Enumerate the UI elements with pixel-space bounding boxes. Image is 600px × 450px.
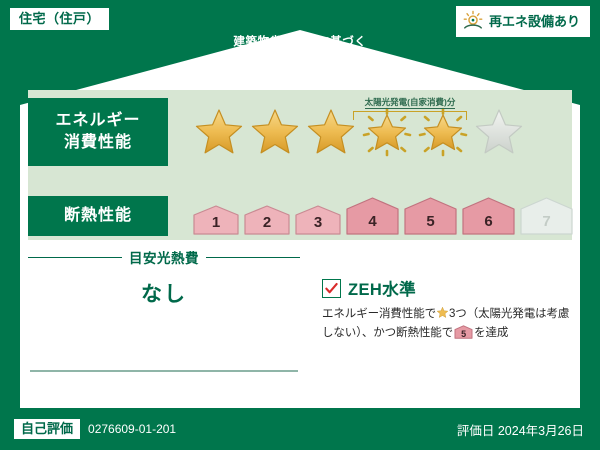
utility-cost-heading-text: 目安光熱費 <box>129 247 199 267</box>
insulation-label: 断熱性能 <box>64 208 132 224</box>
insulation-grade-1: 1 <box>192 205 240 235</box>
energy-performance-label: 住宅（住戸） 再エネ設備あり 建築物省エネ法に基づく 省エネ性能ラベル エネルギ… <box>0 0 600 450</box>
insulation-grade-7: 7 <box>519 197 574 235</box>
zeh-heading: ZEH水準 <box>322 276 572 300</box>
inline-grade-badge: 5 <box>454 325 473 339</box>
insulation-performance-row: 断熱性能 1 2 3 4 <box>28 196 574 236</box>
zeh-standard-block: ZEH水準 エネルギー消費性能で3つ（太陽光発電は考慮しない）、かつ断熱性能で5… <box>322 276 572 342</box>
zeh-desc-part1: エネルギー消費性能で <box>322 308 436 320</box>
heading-rule-left <box>28 257 122 258</box>
evaluation-type-badge: 自己評価 <box>14 419 80 439</box>
insulation-grade-6: 6 <box>461 197 516 235</box>
energy-performance-label-box: エネルギー 消費性能 <box>28 98 168 166</box>
insulation-grade-7-value: 7 <box>519 213 574 230</box>
insulation-grade-5-value: 5 <box>403 213 458 230</box>
insulation-grade-3-value: 3 <box>294 214 342 231</box>
insulation-grade-scale: 1 2 3 4 5 <box>192 197 574 235</box>
insulation-grade-4-value: 4 <box>345 213 400 230</box>
star-6-empty <box>472 105 526 159</box>
insulation-grade-4: 4 <box>345 197 400 235</box>
insulation-grade-5: 5 <box>403 197 458 235</box>
insulation-grade-1-value: 1 <box>192 214 240 231</box>
insulation-grade-3: 3 <box>294 205 342 235</box>
solar-annotation-text: 太陽光発電(自家消費)分 <box>365 98 456 109</box>
energy-label-line2: 消費性能 <box>64 132 132 154</box>
utility-cost-value: なし <box>28 278 300 308</box>
solar-annotation-bracket <box>349 111 471 121</box>
insulation-grade-2: 2 <box>243 205 291 235</box>
insulation-performance-label-box: 断熱性能 <box>28 196 168 236</box>
label-footer: 自己評価 0276609-01-201 評価日 2024年3月26日 <box>0 408 600 450</box>
zeh-title: ZEH水準 <box>348 276 416 300</box>
heading-rule-right <box>206 257 300 258</box>
zeh-checkbox <box>322 279 341 298</box>
energy-label-line1: エネルギー <box>55 110 140 132</box>
evaluation-id: 0276609-01-201 <box>88 422 176 436</box>
solar-generation-annotation: 太陽光発電(自家消費)分 <box>349 92 471 121</box>
star-2-filled <box>248 105 302 159</box>
cost-section-divider <box>30 370 298 372</box>
inline-star-icon <box>436 306 449 319</box>
check-icon <box>325 282 338 295</box>
inline-grade-value: 5 <box>454 330 473 339</box>
evaluation-date: 評価日 2024年3月26日 <box>457 420 584 439</box>
zeh-description: エネルギー消費性能で3つ（太陽光発電は考慮しない）、かつ断熱性能で5を達成 <box>322 305 572 342</box>
zeh-desc-part3: を達成 <box>474 327 508 339</box>
star-1-filled <box>192 105 246 159</box>
insulation-grade-2-value: 2 <box>243 214 291 231</box>
insulation-grade-6-value: 6 <box>461 213 516 230</box>
utility-cost-heading: 目安光熱費 <box>28 247 300 267</box>
